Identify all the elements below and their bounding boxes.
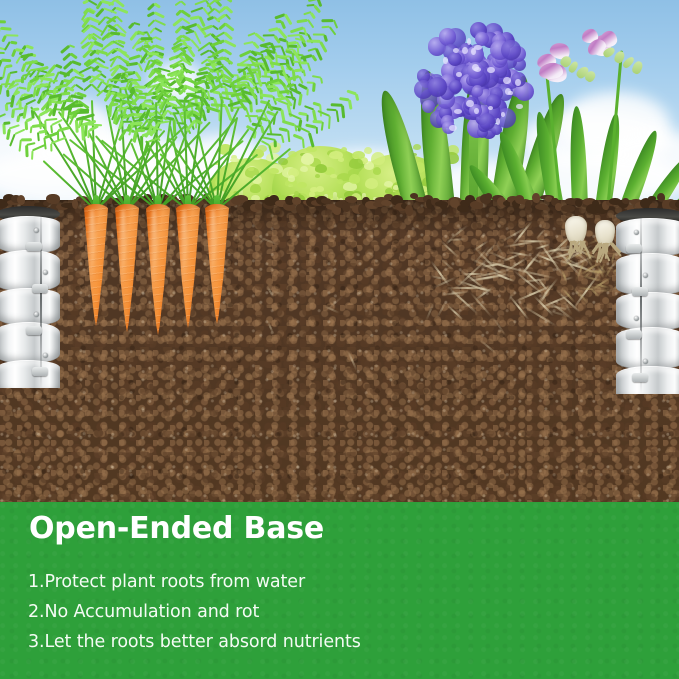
caption-bullet-1: 1.Protect plant roots from water (28, 567, 648, 597)
wall-screw (34, 228, 39, 233)
wall-panel (616, 292, 679, 331)
hyacinth-flower-head (415, 24, 533, 142)
wall-clip (626, 244, 642, 253)
wall-screw (643, 273, 648, 278)
caption-bullet-2: 2.No Accumulation and rot (28, 597, 648, 627)
wall-clip (632, 287, 648, 296)
wall-clip (26, 326, 42, 335)
bed-wall-left (0, 206, 60, 388)
caption-title: Open-Ended Base (29, 511, 324, 546)
flower-bulb (595, 220, 615, 248)
caption-bullet-list: 1.Protect plant roots from water 2.No Ac… (28, 567, 648, 657)
wall-clip (32, 367, 48, 376)
wall-panel (0, 360, 60, 388)
wall-screw (634, 230, 639, 235)
wall-screw (43, 270, 48, 275)
wall-seam (640, 208, 642, 394)
carrot (144, 204, 172, 335)
carrot (113, 204, 141, 332)
caption-bullet-3: 3.Let the roots better absord nutrients (28, 627, 648, 657)
flower-bulb (565, 216, 587, 246)
wall-clip (626, 330, 642, 339)
bed-wall-right (616, 208, 679, 394)
carrot (174, 204, 202, 328)
product-feature-image: Open-Ended Base 1.Protect plant roots fr… (0, 0, 679, 679)
wall-clip (26, 242, 42, 251)
carrot (82, 204, 110, 326)
carrot-foliage (147, 55, 287, 210)
wall-screw (34, 312, 39, 317)
wall-panel (0, 250, 60, 292)
carrot (203, 204, 231, 324)
wall-seam (40, 206, 42, 388)
wall-screw (634, 316, 639, 321)
wall-screw (643, 359, 648, 364)
wall-clip (632, 373, 648, 382)
wall-panel (0, 288, 60, 326)
wall-clip (32, 284, 48, 293)
